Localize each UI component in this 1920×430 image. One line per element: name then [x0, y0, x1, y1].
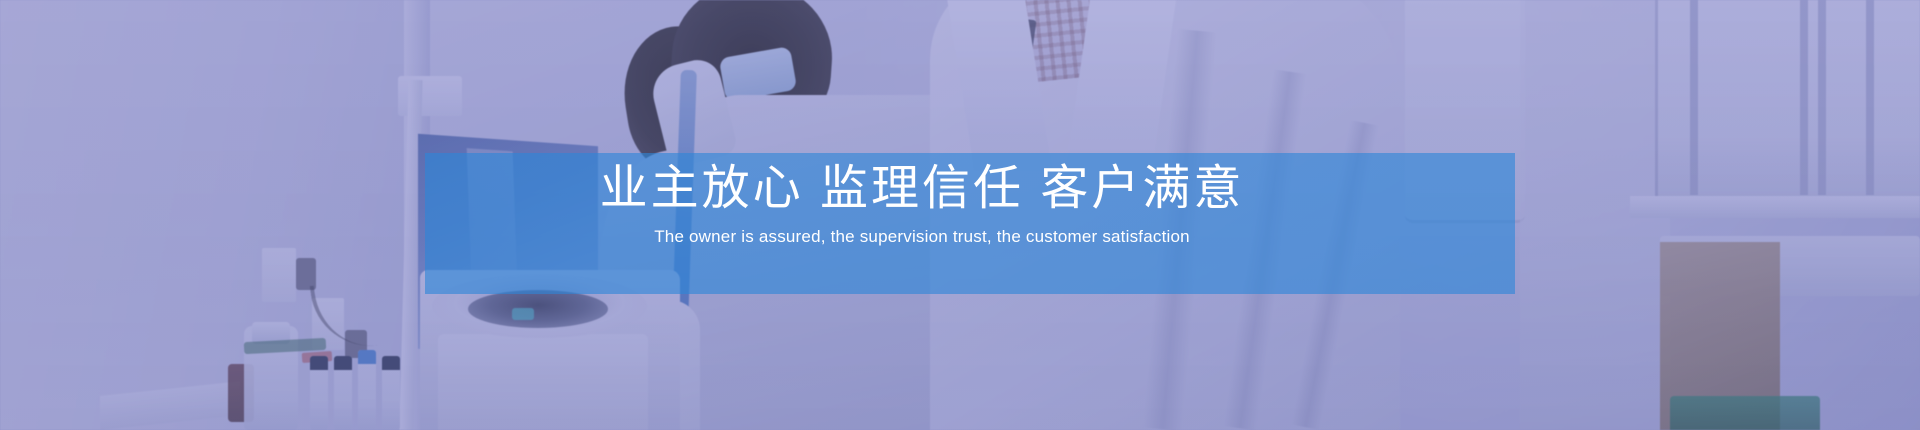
slogan-text-block: 业主放心 监理信任 客户满意 The owner is assured, the…	[425, 161, 1515, 247]
slogan-subtitle-english: The owner is assured, the supervision tr…	[425, 227, 1419, 247]
hero-banner: 业主放心 监理信任 客户满意 The owner is assured, the…	[0, 0, 1920, 430]
slogan-band: 业主放心 监理信任 客户满意 The owner is assured, the…	[425, 153, 1515, 294]
slogan-headline-chinese: 业主放心 监理信任 客户满意	[425, 161, 1419, 218]
